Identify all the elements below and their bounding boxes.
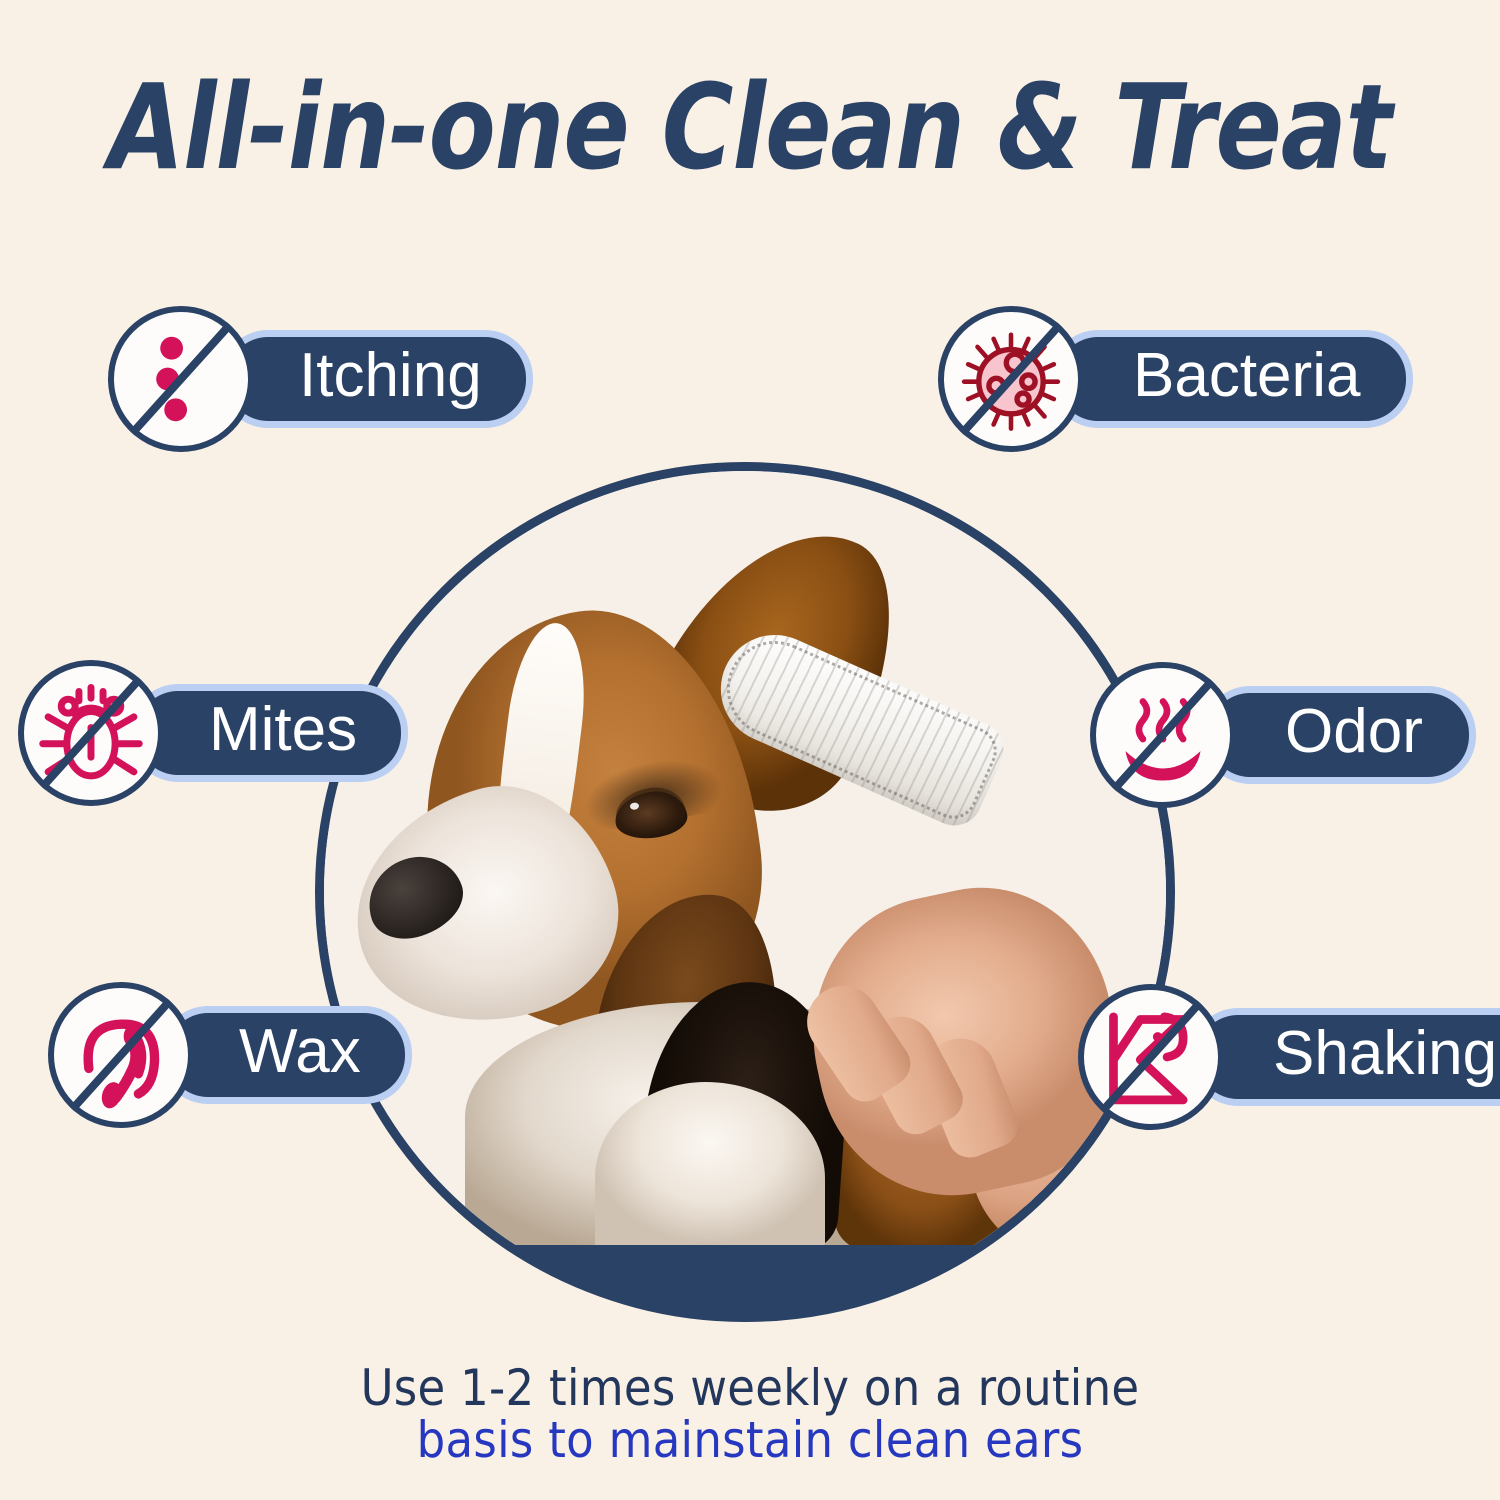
usage-caption: Use 1-2 times weekly on a routine basis … <box>0 1362 1500 1466</box>
no-mites-icon <box>18 660 164 806</box>
product-photo-circle <box>315 462 1175 1322</box>
badge-label: Odor <box>1285 701 1423 763</box>
badge-pill-mites[interactable]: Mites <box>130 684 408 782</box>
page-title: All-in-one Clean & Treat <box>60 68 1440 186</box>
badge-pill-bacteria[interactable]: Bacteria <box>1050 330 1413 428</box>
photo-scene <box>315 462 1175 1245</box>
infographic-canvas: All-in-one Clean & Treat <box>0 0 1500 1500</box>
caption-line-2: basis to mainstain clean ears <box>0 1414 1500 1466</box>
badge-label: Wax <box>239 1021 361 1083</box>
benefit-badge-shaking[interactable]: Shaking <box>1078 984 1500 1130</box>
badge-label: Mites <box>209 699 357 761</box>
benefit-badge-itching[interactable]: Itching <box>108 306 533 452</box>
benefit-badge-mites[interactable]: Mites <box>18 660 408 806</box>
caption-line-1: Use 1-2 times weekly on a routine <box>0 1362 1500 1414</box>
badge-label: Bacteria <box>1133 345 1360 407</box>
no-earwax-icon <box>48 982 194 1128</box>
badge-pill-itching[interactable]: Itching <box>220 330 533 428</box>
no-bacteria-icon <box>938 306 1084 452</box>
dog-photo <box>315 462 1175 1245</box>
badge-pill-wax[interactable]: Wax <box>160 1006 412 1104</box>
badge-label: Shaking <box>1273 1023 1497 1085</box>
no-head-shaking-icon <box>1078 984 1224 1130</box>
benefit-badge-odor[interactable]: Odor <box>1090 662 1476 808</box>
photo-wrap <box>315 462 1175 1322</box>
benefit-badge-wax[interactable]: Wax <box>48 982 412 1128</box>
no-itching-icon <box>108 306 254 452</box>
badge-pill-shaking[interactable]: Shaking <box>1190 1008 1500 1106</box>
badge-pill-odor[interactable]: Odor <box>1202 686 1476 784</box>
no-odor-icon <box>1090 662 1236 808</box>
badge-label: Itching <box>299 345 482 407</box>
benefit-badge-bacteria[interactable]: Bacteria <box>938 306 1413 452</box>
